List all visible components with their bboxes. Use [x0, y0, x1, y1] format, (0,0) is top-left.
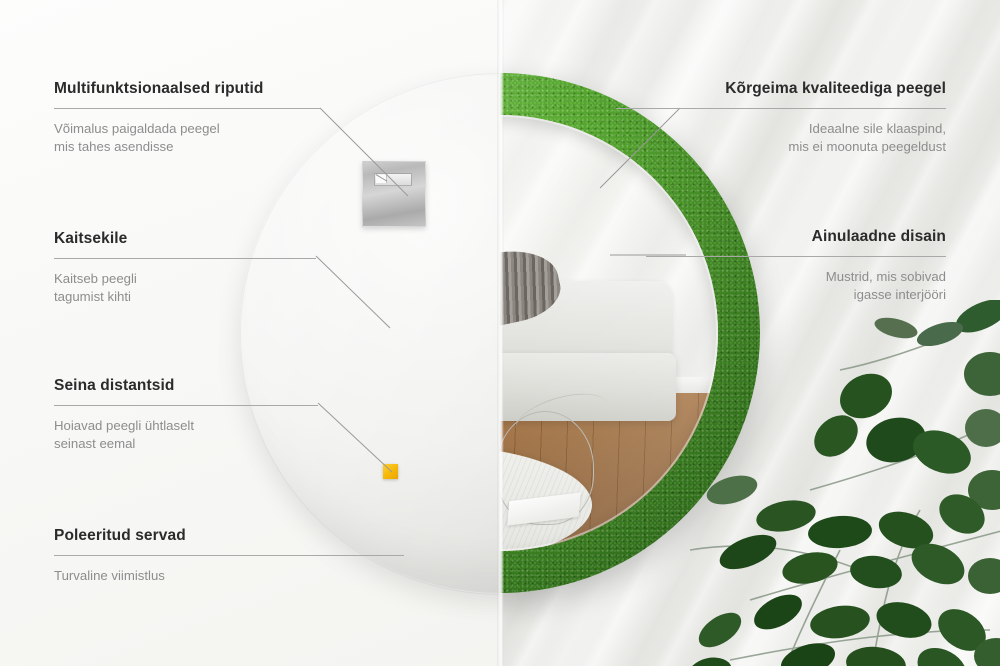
mirror-glass — [500, 115, 718, 551]
callout-rule — [54, 555, 404, 556]
callout-korgeima-kvaliteediga-peegel: Kõrgeima kvaliteediga peegel Ideaalne si… — [616, 80, 946, 156]
callout-rule — [646, 256, 946, 257]
callout-multifunktsionaalsed-riputid: Multifunktsionaalsed riputid Võimalus pa… — [54, 80, 320, 156]
callout-body: Võimalus paigaldada peegel mis tahes ase… — [54, 120, 320, 156]
callout-title: Multifunktsionaalsed riputid — [54, 80, 320, 98]
callout-rule — [616, 108, 946, 109]
panel-divider — [497, 0, 504, 666]
callout-poleeritud-servad: Poleeritud servad Turvaline viimistlus — [54, 527, 404, 585]
callout-body: Mustrid, mis sobivad igasse interjööri — [646, 268, 946, 304]
leaf-branches-icon — [690, 300, 1000, 666]
hanger-keyhole-slot — [374, 173, 412, 186]
callout-title: Ainulaadne disain — [646, 228, 946, 246]
callout-seina-distantsid: Seina distantsid Hoiavad peegli ühtlasel… — [54, 377, 318, 453]
callout-body: Ideaalne sile klaaspind, mis ei moonuta … — [616, 120, 946, 156]
callout-title: Seina distantsid — [54, 377, 318, 395]
callout-body: Hoiavad peegli ühtlaselt seinast eemal — [54, 417, 318, 453]
callout-body: Kaitseb peegli tagumist kihti — [54, 270, 316, 306]
callout-ainulaadne-disain: Ainulaadne disain Mustrid, mis sobivad i… — [646, 228, 946, 304]
wall-spacer — [383, 464, 398, 479]
foliage-decor — [690, 300, 1000, 666]
callout-rule — [54, 258, 316, 259]
mirror-reflection — [500, 115, 718, 551]
infographic-canvas: Multifunktsionaalsed riputid Võimalus pa… — [0, 0, 1000, 666]
callout-rule — [54, 405, 318, 406]
callout-title: Kaitsekile — [54, 230, 316, 248]
callout-body: Turvaline viimistlus — [54, 567, 404, 585]
hanger-plate — [362, 161, 426, 227]
callout-title: Poleeritud servad — [54, 527, 404, 545]
callout-title: Kõrgeima kvaliteediga peegel — [616, 80, 946, 98]
callout-rule — [54, 108, 320, 109]
callout-kaitsekile: Kaitsekile Kaitseb peegli tagumist kihti — [54, 230, 316, 306]
